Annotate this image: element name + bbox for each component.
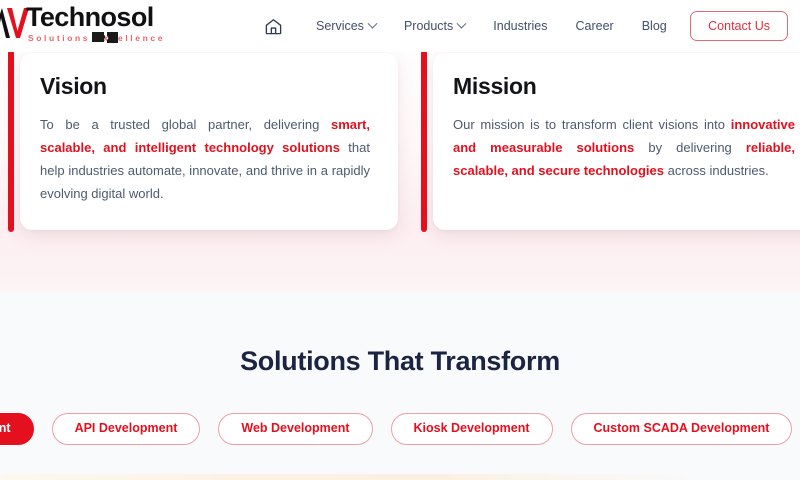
vision-card: Vision To be a trusted global partner, d… — [0, 50, 400, 232]
text-plain: across industries. — [664, 163, 769, 178]
vision-card-accent-bar — [8, 50, 14, 232]
mission-card-body: Mission Our mission is to transform clie… — [433, 53, 800, 230]
mission-card: Mission Our mission is to transform clie… — [413, 50, 800, 232]
home-icon[interactable] — [256, 9, 290, 43]
nav-item-services[interactable]: Services — [302, 13, 390, 39]
site-header: Technosol Solutions Excellence Services … — [0, 0, 800, 52]
solution-chip[interactable]: elopment — [0, 413, 34, 445]
nav-item-products[interactable]: Products — [390, 13, 479, 39]
nav-item-industries-label: Industries — [493, 19, 547, 33]
logo-wordmark: Technosol — [26, 4, 154, 31]
bottom-card-edge — [0, 474, 800, 480]
vision-card-body: Vision To be a trusted global partner, d… — [20, 53, 398, 230]
nav-item-services-label: Services — [316, 19, 364, 33]
text-plain: by delivering — [634, 140, 746, 155]
nav-item-career[interactable]: Career — [561, 13, 627, 39]
nav-item-blog[interactable]: Blog — [628, 13, 681, 39]
nav-item-products-label: Products — [404, 19, 453, 33]
solutions-chip-list[interactable]: elopmentAPI DevelopmentWeb DevelopmentKi… — [0, 413, 800, 445]
solutions-background — [0, 292, 800, 480]
nav-item-career-label: Career — [575, 19, 613, 33]
vision-card-text: To be a trusted global partner, deliveri… — [40, 113, 370, 205]
nav-item-blog-label: Blog — [642, 19, 667, 33]
vision-card-title: Vision — [40, 73, 370, 100]
logo[interactable]: Technosol Solutions Excellence — [0, 2, 165, 48]
chevron-down-icon — [367, 18, 377, 28]
chevron-down-icon — [457, 18, 467, 28]
contact-us-button[interactable]: Contact Us — [690, 11, 788, 41]
solutions-section-title: Solutions That Transform — [0, 346, 800, 377]
mission-card-title: Mission — [453, 73, 795, 100]
text-plain: To be a trusted global partner, deliveri… — [40, 117, 331, 132]
solution-chip[interactable]: Custom SCADA Development — [571, 413, 793, 445]
main-navigation: Services Products Industries Career Blog — [256, 0, 681, 52]
solution-chip[interactable]: Web Development — [218, 413, 372, 445]
solution-chip[interactable]: Kiosk Development — [391, 413, 553, 445]
solution-chip[interactable]: API Development — [52, 413, 201, 445]
puzzle-pieces-icon — [90, 30, 136, 48]
mission-card-accent-bar — [421, 50, 427, 232]
text-plain: Our mission is to transform client visio… — [453, 117, 731, 132]
nav-item-industries[interactable]: Industries — [479, 13, 561, 39]
mission-card-text: Our mission is to transform client visio… — [453, 113, 795, 182]
